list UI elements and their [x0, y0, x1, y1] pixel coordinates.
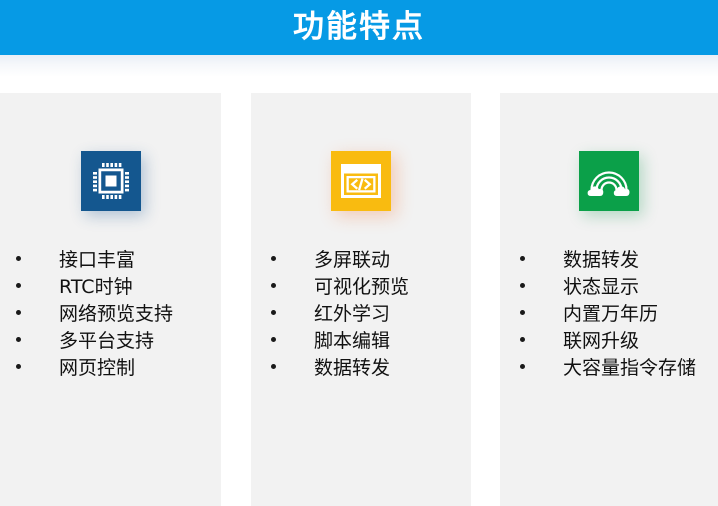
bullet-icon — [520, 256, 525, 261]
feature-label: 数据转发 — [563, 247, 639, 274]
list-item: RTC时钟 — [10, 274, 221, 301]
bullet-icon — [271, 364, 276, 369]
bullet-icon — [16, 256, 21, 261]
header-gradient-divider — [0, 55, 718, 77]
feature-label: 接口丰富 — [59, 247, 135, 274]
bullet-icon — [16, 283, 21, 288]
feature-card-2-list: 多屏联动 可视化预览 红外学习 脚本编辑 数据转发 — [251, 247, 471, 382]
list-item: 内置万年历 — [514, 301, 718, 328]
bullet-icon — [16, 364, 21, 369]
feature-card-2-icon-wrap — [331, 151, 391, 211]
bullet-icon — [520, 310, 525, 315]
header-banner: 功能特点 — [0, 0, 718, 55]
feature-label: 可视化预览 — [314, 274, 409, 301]
list-item: 可视化预览 — [265, 274, 471, 301]
feature-label: 红外学习 — [314, 301, 390, 328]
feature-card-1: 接口丰富 RTC时钟 网络预览支持 多平台支持 网页控制 — [0, 93, 221, 506]
bullet-icon — [520, 337, 525, 342]
feature-card-3-icon-wrap — [579, 151, 639, 211]
list-item: 接口丰富 — [10, 247, 221, 274]
feature-label: 脚本编辑 — [314, 328, 390, 355]
bullet-icon — [520, 364, 525, 369]
feature-label: 网页控制 — [59, 355, 135, 382]
list-item: 多平台支持 — [10, 328, 221, 355]
feature-label: 状态显示 — [563, 274, 639, 301]
card-gap-1 — [221, 93, 251, 506]
bullet-icon — [271, 256, 276, 261]
feature-card-1-icon-wrap — [81, 151, 141, 211]
bullet-icon — [271, 337, 276, 342]
bullet-icon — [520, 283, 525, 288]
feature-card-2: 多屏联动 可视化预览 红外学习 脚本编辑 数据转发 — [251, 93, 471, 506]
list-item: 红外学习 — [265, 301, 471, 328]
feature-card-3-list: 数据转发 状态显示 内置万年历 联网升级 大容量指令存储 — [500, 247, 718, 382]
list-item: 大容量指令存储 — [514, 355, 718, 382]
list-item: 网页控制 — [10, 355, 221, 382]
list-item: 数据转发 — [514, 247, 718, 274]
rainbow-cloud-icon — [579, 151, 639, 211]
code-window-icon — [331, 151, 391, 211]
feature-label: RTC时钟 — [59, 274, 133, 301]
bullet-icon — [271, 283, 276, 288]
cpu-chip-icon — [81, 151, 141, 211]
feature-highlights-page: 功能特点 — [0, 0, 718, 506]
list-item: 联网升级 — [514, 328, 718, 355]
list-item: 状态显示 — [514, 274, 718, 301]
bullet-icon — [271, 310, 276, 315]
feature-label: 内置万年历 — [563, 301, 658, 328]
card-gap-2 — [471, 93, 500, 506]
feature-label: 多平台支持 — [59, 328, 154, 355]
bullet-icon — [16, 337, 21, 342]
feature-label: 大容量指令存储 — [563, 355, 696, 382]
list-item: 多屏联动 — [265, 247, 471, 274]
feature-card-1-list: 接口丰富 RTC时钟 网络预览支持 多平台支持 网页控制 — [0, 247, 221, 382]
feature-label: 数据转发 — [314, 355, 390, 382]
page-title: 功能特点 — [293, 12, 425, 43]
list-item: 脚本编辑 — [265, 328, 471, 355]
feature-label: 网络预览支持 — [59, 301, 173, 328]
list-item: 数据转发 — [265, 355, 471, 382]
feature-cards-row: 接口丰富 RTC时钟 网络预览支持 多平台支持 网页控制 — [0, 93, 718, 506]
bullet-icon — [16, 310, 21, 315]
list-item: 网络预览支持 — [10, 301, 221, 328]
feature-label: 联网升级 — [563, 328, 639, 355]
feature-label: 多屏联动 — [314, 247, 390, 274]
feature-card-3: 数据转发 状态显示 内置万年历 联网升级 大容量指令存储 — [500, 93, 718, 506]
